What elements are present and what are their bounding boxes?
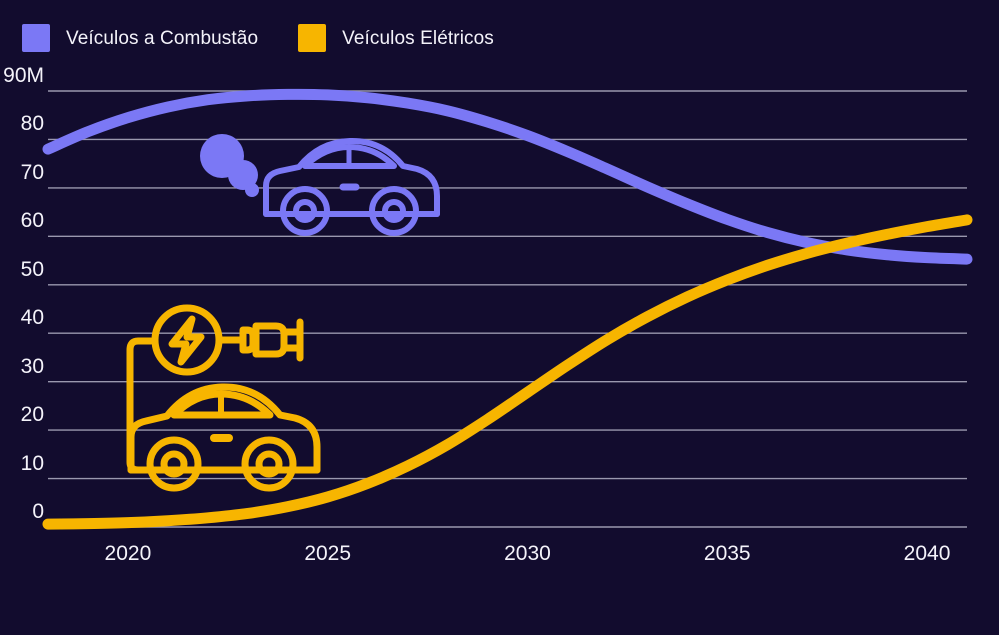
x-axis-tick-label: 2020 bbox=[105, 543, 152, 564]
x-axis-tick-label: 2030 bbox=[504, 543, 551, 564]
x-axis-labels: 20202025203020352040 bbox=[0, 0, 999, 635]
x-axis-tick-label: 2040 bbox=[904, 543, 951, 564]
x-axis-tick-label: 2035 bbox=[704, 543, 751, 564]
chart-page: Veículos a Combustão Veículos Elétricos bbox=[0, 0, 999, 635]
x-axis-tick-label: 2025 bbox=[304, 543, 351, 564]
